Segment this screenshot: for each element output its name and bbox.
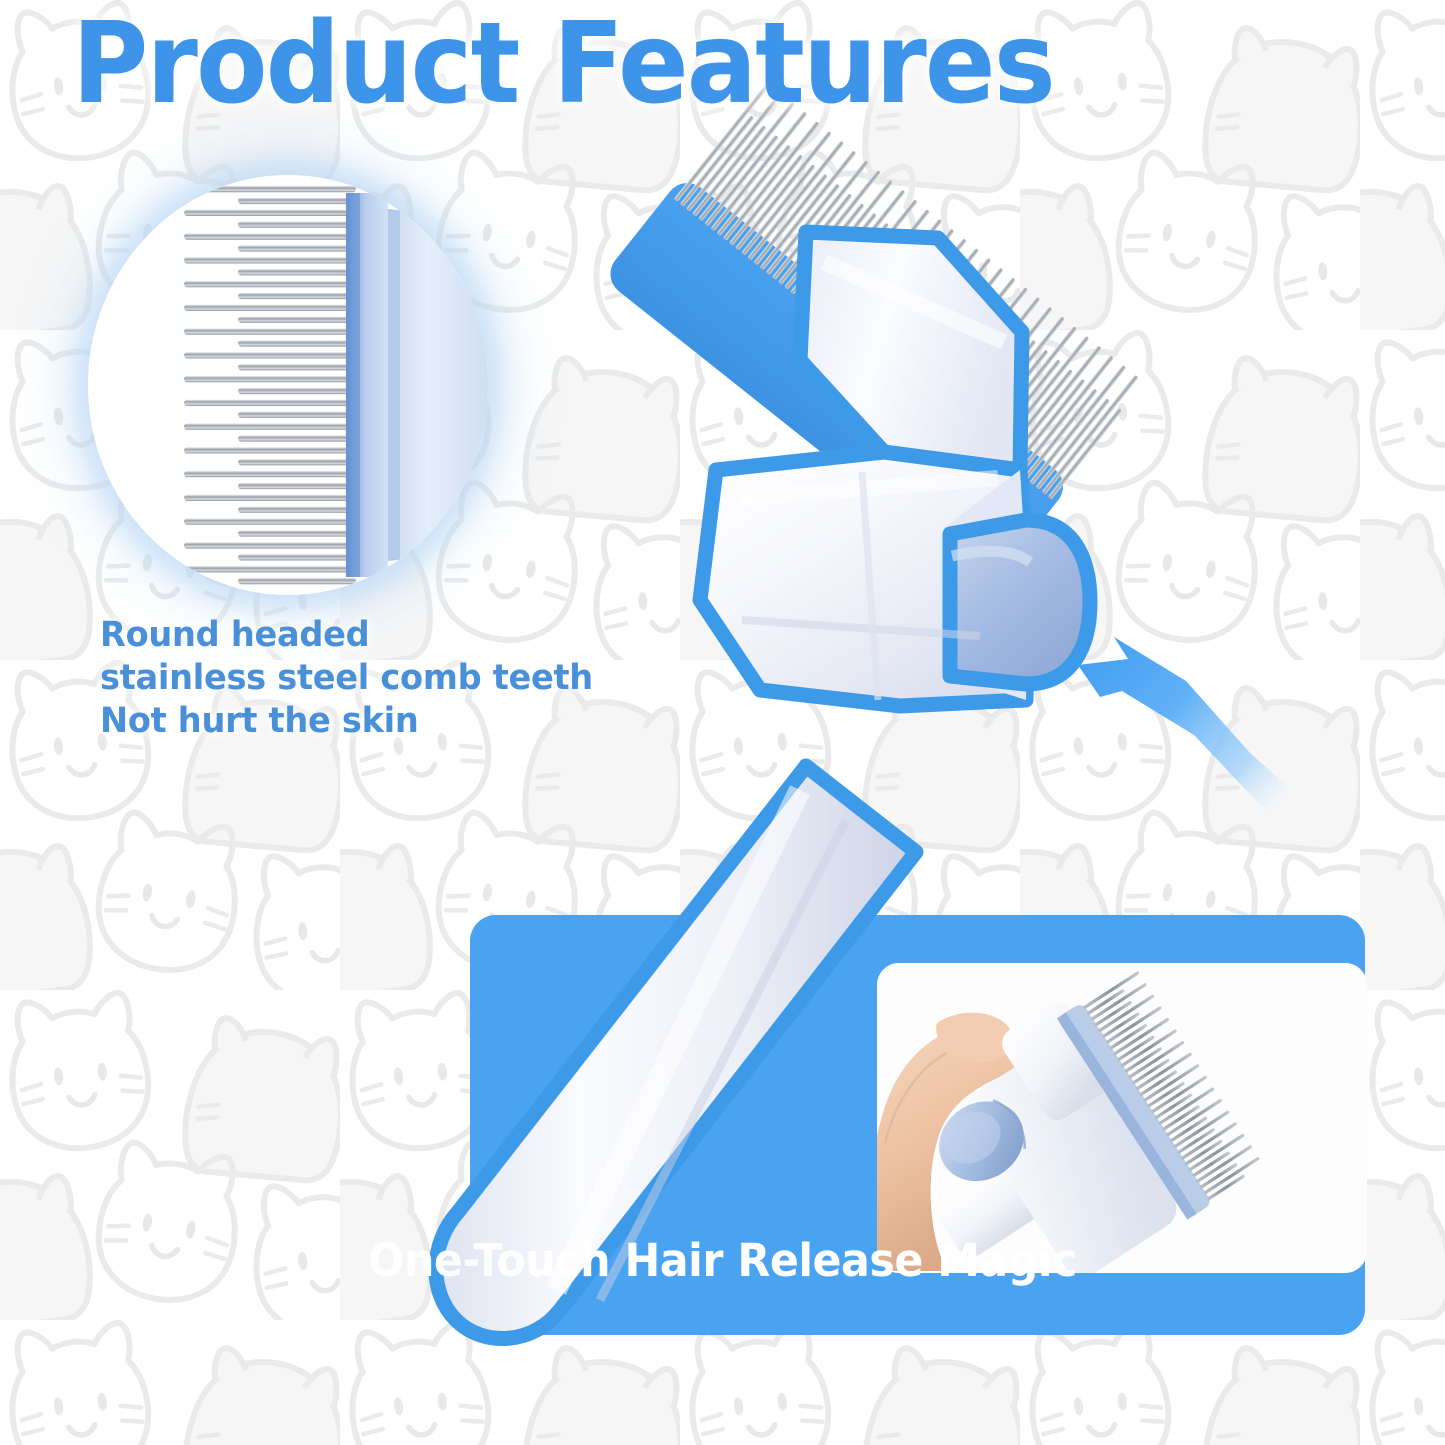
product-in-hand-photo (877, 963, 1367, 1273)
feature-line-1: Round headed (100, 614, 593, 657)
feature-line-3: Not hurt the skin (100, 700, 593, 743)
page-title: Product Features (72, 8, 1054, 120)
magnified-comb-detail (88, 175, 498, 605)
panel-caption: One-Touch Hair Release Magic (36, 1233, 1409, 1289)
feature-line-2: stainless steel comb teeth (100, 657, 593, 700)
product-feature-infographic: Product Features (0, 0, 1445, 1445)
feature-description: Round headed stainless steel comb teeth … (100, 614, 593, 743)
release-button-arrow (1070, 625, 1340, 815)
magnifier-clip (88, 175, 488, 595)
